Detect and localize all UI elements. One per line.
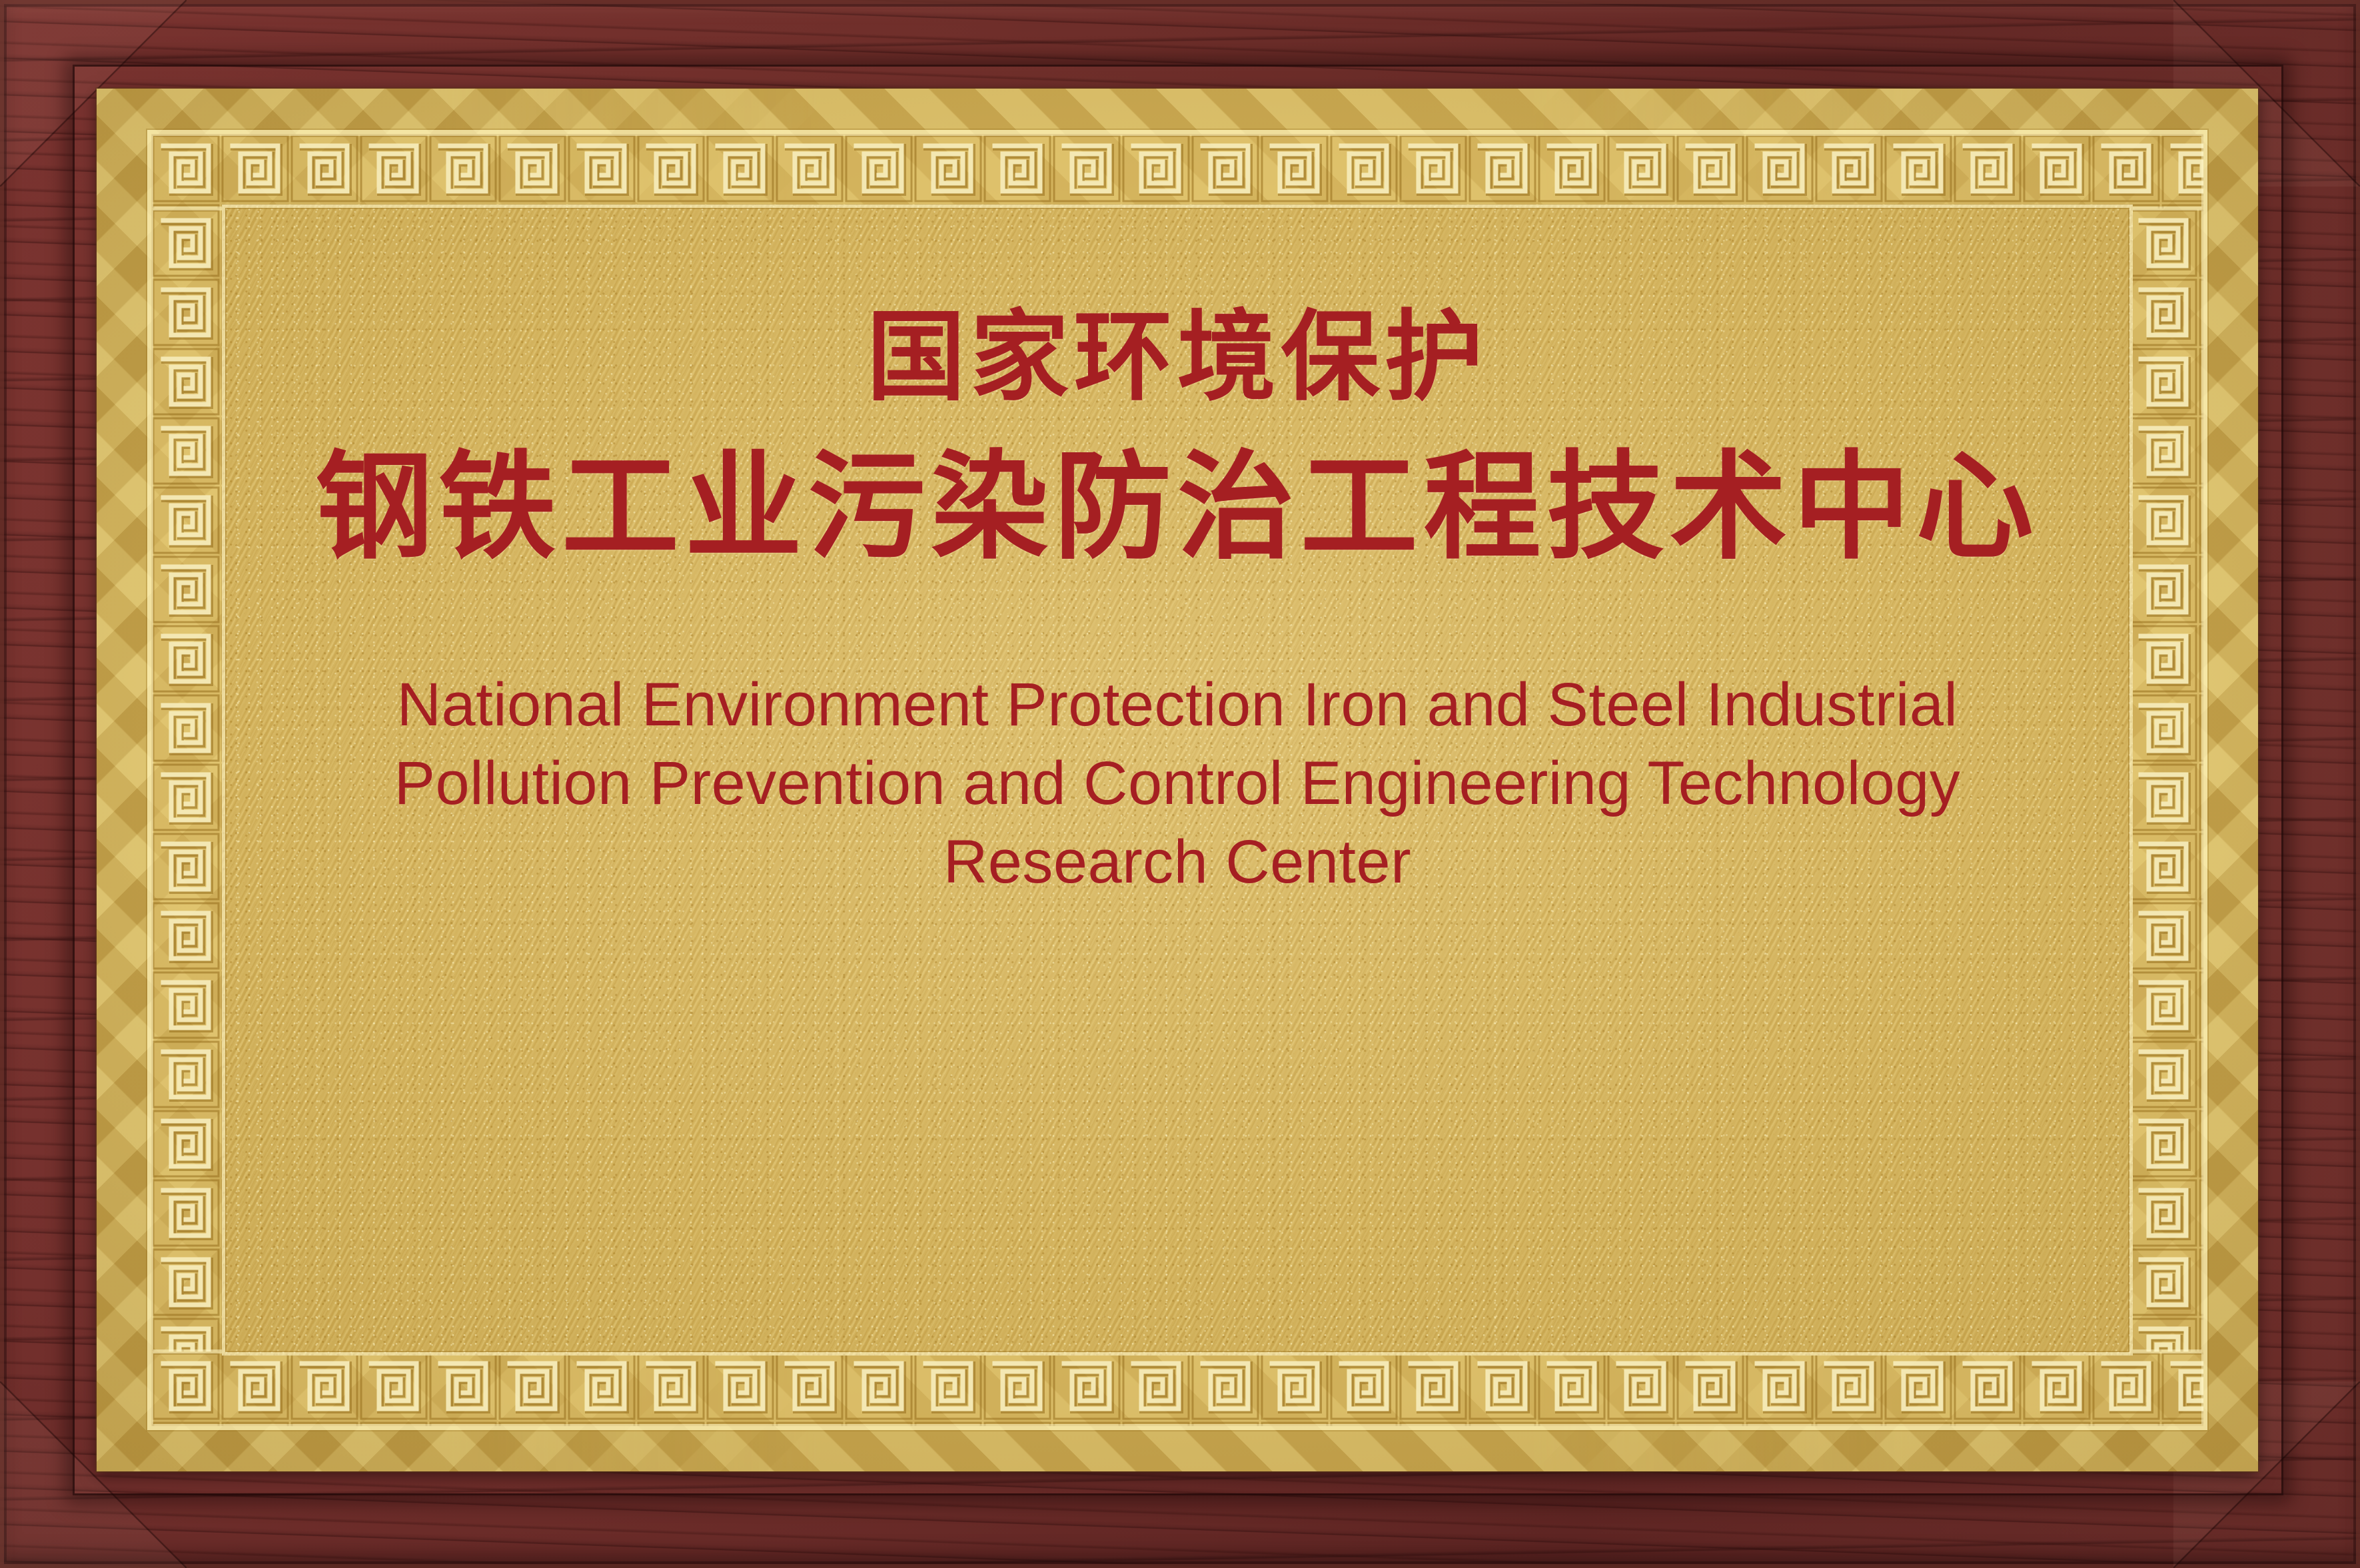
award-plaque: 国家环境保护 钢铁工业污染防治工程技术中心 National Environme… xyxy=(0,0,2360,1568)
greek-key-icon-right xyxy=(2129,208,2203,1352)
greek-key-icon-left xyxy=(151,208,226,1352)
page-title-chinese-line-2: 钢铁工业污染防治工程技术中心 xyxy=(315,449,2039,566)
text-stack: 国家环境保护 钢铁工业污染防治工程技术中心 National Environme… xyxy=(225,208,2129,1352)
subtitle-english: National Environment Protection Iron and… xyxy=(324,666,2030,901)
subtitle-english-line-3: Research Center xyxy=(324,823,2030,902)
subtitle-english-line-2: Pollution Prevention and Control Enginee… xyxy=(324,745,2030,823)
gold-plate: 国家环境保护 钢铁工业污染防治工程技术中心 National Environme… xyxy=(97,89,2258,1471)
greek-key-icon-bottom xyxy=(151,1352,2203,1426)
inner-panel: 国家环境保护 钢铁工业污染防治工程技术中心 National Environme… xyxy=(222,204,2133,1356)
greek-key-icon-top xyxy=(151,134,2203,208)
subtitle-english-line-1: National Environment Protection Iron and… xyxy=(324,666,2030,745)
page-title-chinese-line-1: 国家环境保护 xyxy=(867,308,1488,406)
